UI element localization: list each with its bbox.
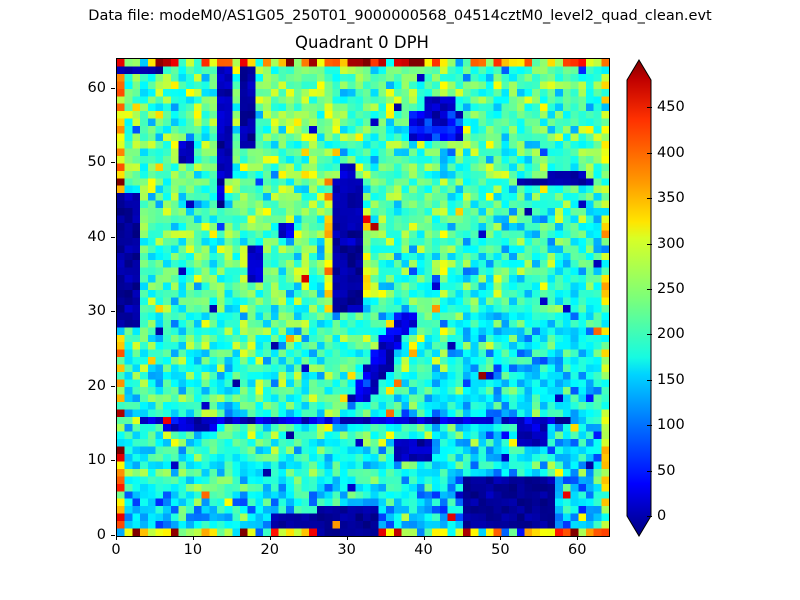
- page-title: Quadrant 0 DPH: [116, 33, 608, 53]
- x-axis-tick-label: 10: [163, 542, 223, 558]
- y-axis-tick-label: 0: [58, 527, 106, 543]
- x-axis-tick-mark: [116, 536, 117, 540]
- colorbar-tick-label: 0: [657, 508, 666, 524]
- colorbar-tick-label: 400: [657, 145, 685, 161]
- colorbar-tick-mark: [647, 153, 652, 154]
- colorbar-tick-mark: [647, 198, 652, 199]
- dph-heatmap-image: [117, 59, 609, 536]
- figure-suptitle: Data file: modeM0/AS1G05_250T01_90000005…: [0, 7, 800, 25]
- x-axis-tick-mark: [424, 536, 425, 540]
- y-axis-tick-mark: [111, 311, 115, 312]
- colorbar-tick-mark: [647, 334, 652, 335]
- y-axis-tick-label: 10: [58, 452, 106, 468]
- x-axis-tick-mark: [270, 536, 271, 540]
- y-axis-tick-mark: [111, 162, 115, 163]
- y-axis-tick-label: 20: [58, 378, 106, 394]
- colorbar-tick-mark: [647, 380, 652, 381]
- x-axis-tick-label: 0: [86, 542, 146, 558]
- colorbar-tick-label: 250: [657, 281, 685, 297]
- x-axis-tick-label: 50: [470, 542, 530, 558]
- x-axis-tick-label: 20: [240, 542, 300, 558]
- colorbar-tick-mark: [647, 289, 652, 290]
- colorbar-tick-label: 300: [657, 236, 685, 252]
- y-axis-tick-label: 40: [58, 229, 106, 245]
- colorbar-tick-mark: [647, 471, 652, 472]
- colorbar: 050100150200250300350400450: [625, 58, 715, 540]
- y-axis-tick-mark: [111, 535, 115, 536]
- colorbar-tick-mark: [647, 244, 652, 245]
- figure-canvas: Data file: modeM0/AS1G05_250T01_90000005…: [0, 0, 800, 600]
- colorbar-tick-label: 50: [657, 463, 675, 479]
- y-axis-tick-mark: [111, 460, 115, 461]
- y-axis-tick-label: 50: [58, 154, 106, 170]
- colorbar-tick-label: 150: [657, 372, 685, 388]
- x-axis-tick-label: 60: [547, 542, 607, 558]
- colorbar-tick-label: 200: [657, 326, 685, 342]
- colorbar-gradient: [625, 58, 655, 540]
- x-axis-tick-mark: [500, 536, 501, 540]
- y-axis-tick-mark: [111, 237, 115, 238]
- y-axis-tick-mark: [111, 386, 115, 387]
- x-axis-tick-label: 40: [394, 542, 454, 558]
- heatmap-axes: [116, 58, 610, 537]
- x-axis-tick-label: 30: [317, 542, 377, 558]
- x-axis-tick-mark: [347, 536, 348, 540]
- colorbar-tick-mark: [647, 425, 652, 426]
- colorbar-tick-label: 450: [657, 99, 685, 115]
- colorbar-tick-mark: [647, 107, 652, 108]
- colorbar-tick-label: 350: [657, 190, 685, 206]
- colorbar-tick-label: 100: [657, 417, 685, 433]
- y-axis-tick-label: 60: [58, 80, 106, 96]
- x-axis-tick-mark: [577, 536, 578, 540]
- y-axis-tick-label: 30: [58, 303, 106, 319]
- colorbar-tick-mark: [647, 516, 652, 517]
- x-axis-tick-mark: [193, 536, 194, 540]
- y-axis-tick-mark: [111, 88, 115, 89]
